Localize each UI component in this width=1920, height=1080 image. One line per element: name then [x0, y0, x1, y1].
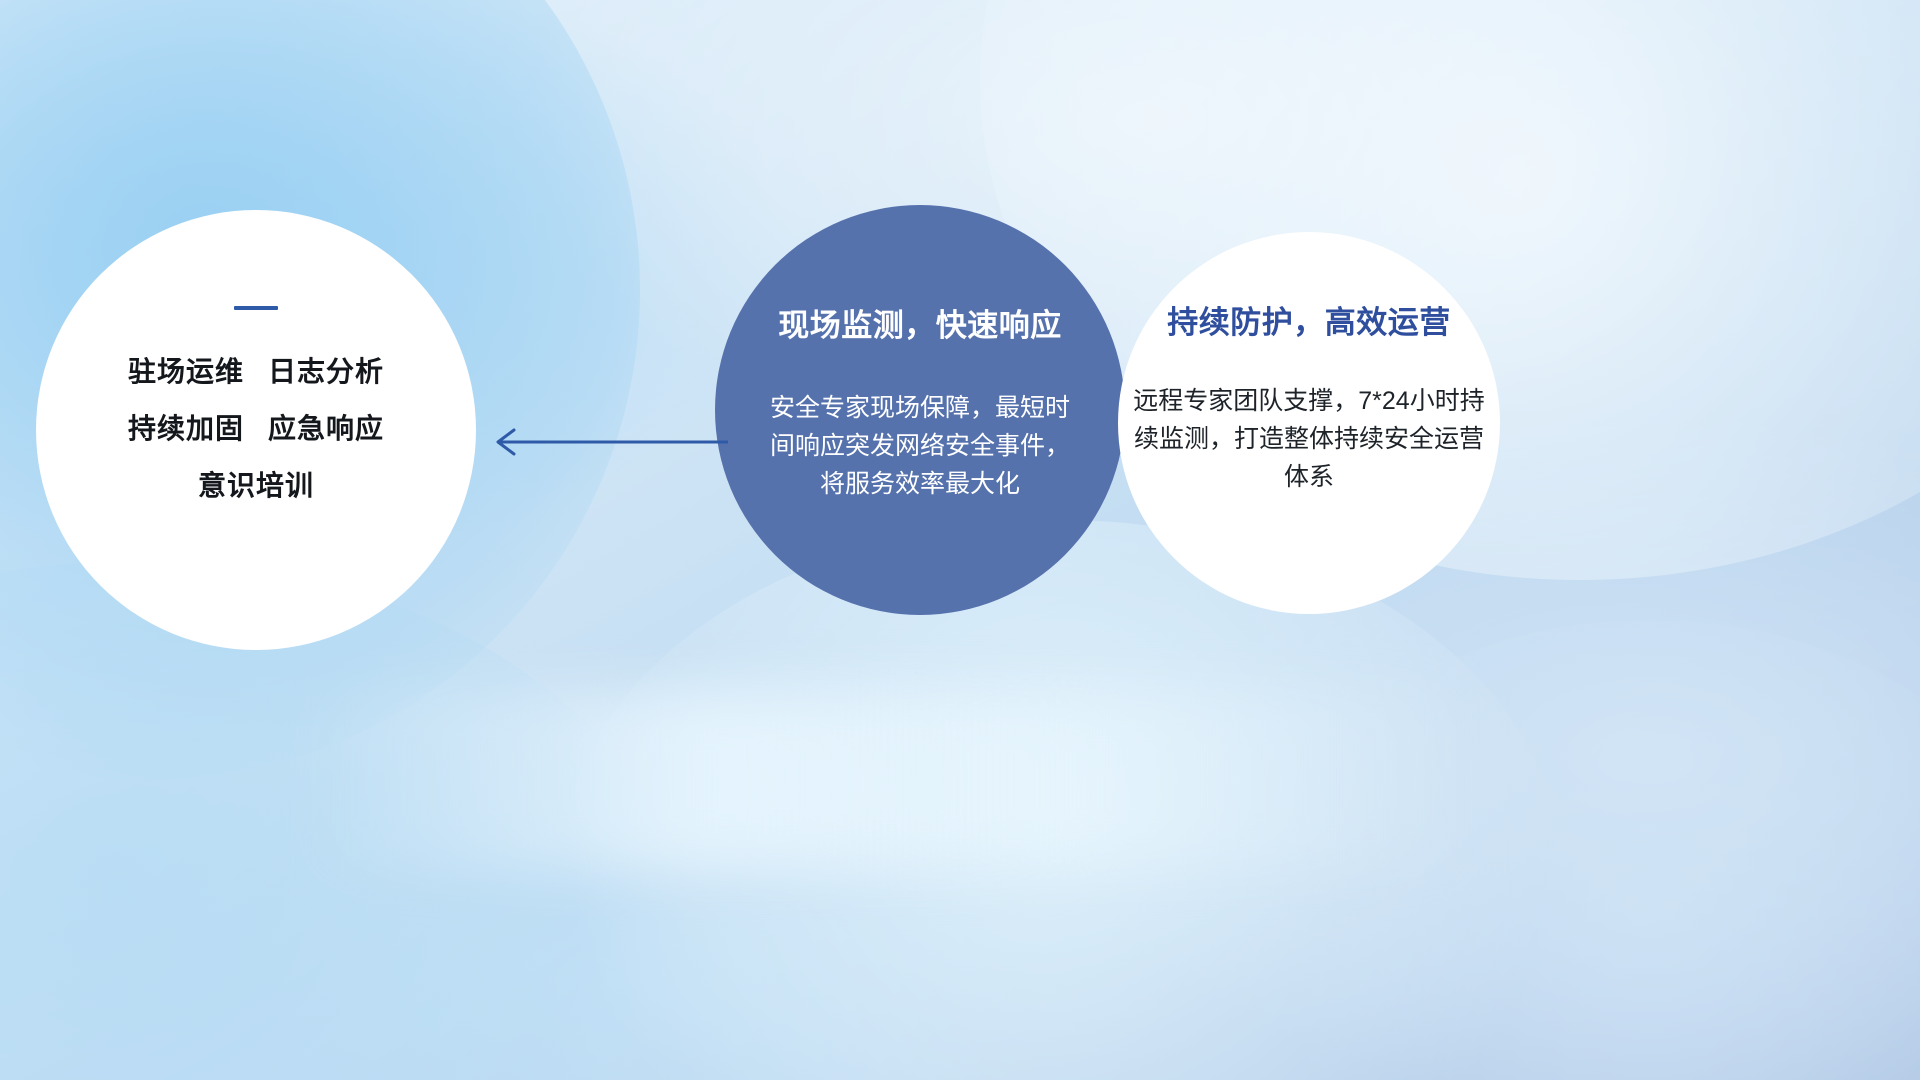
onsite-monitoring-body: 安全专家现场保障，最短时间响应突发网络安全事件，将服务效率最大化 — [770, 389, 1070, 503]
leftward-flow-arrow — [480, 412, 730, 472]
capability-row-1: 驻场运维日志分析 — [128, 358, 384, 386]
left-circle-content: 驻场运维日志分析 持续加固应急响应 意识培训 — [36, 210, 476, 529]
capability-row-3: 意识培训 — [198, 472, 314, 500]
onsite-monitoring-title: 现场监测，快速响应 — [778, 300, 1062, 345]
continuous-protection-body: 远程专家团队支撑，7*24小时持续监测，打造整体持续安全运营体系 — [1133, 382, 1485, 496]
background-light-streak — [300, 690, 1480, 870]
onsite-monitoring-circle: 现场监测，快速响应 安全专家现场保障，最短时间响应突发网络安全事件，将服务效率最… — [715, 205, 1125, 615]
capability-label: 应急响应 — [268, 413, 384, 444]
continuous-protection-circle: 持续防护，高效运营 远程专家团队支撑，7*24小时持续监测，打造整体持续安全运营… — [1118, 232, 1500, 614]
on-site-capabilities-circle: 驻场运维日志分析 持续加固应急响应 意识培训 — [36, 210, 476, 650]
divider-dash-icon — [234, 306, 278, 310]
capability-label: 驻场运维 — [128, 356, 244, 387]
continuous-protection-title: 持续防护，高效运营 — [1167, 297, 1451, 342]
capability-label: 日志分析 — [268, 356, 384, 387]
slide-canvas: 驻场运维日志分析 持续加固应急响应 意识培训 现场监测，快速响应 安全专家现场保… — [0, 0, 1920, 1080]
capability-label: 持续加固 — [128, 413, 244, 444]
capability-row-2: 持续加固应急响应 — [128, 415, 384, 443]
capability-label: 意识培训 — [198, 470, 314, 501]
